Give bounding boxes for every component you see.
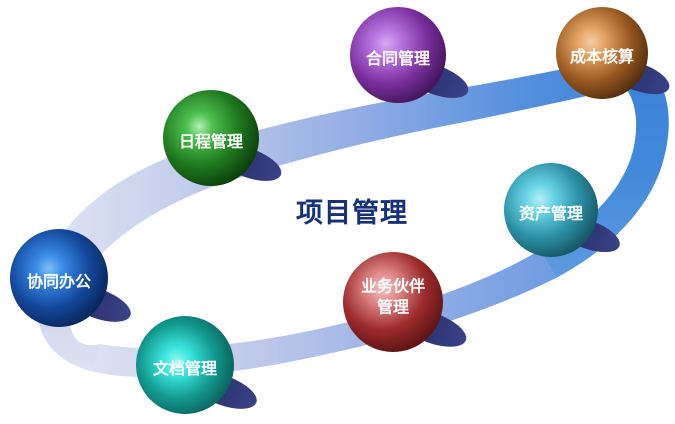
- node-label-line: 文档管理: [153, 359, 217, 378]
- node-collaborative-office[interactable]: 协同办公: [10, 229, 135, 329]
- node-label: 成本核算: [570, 47, 634, 66]
- node-label: 合同管理: [366, 49, 430, 68]
- project-management-diagram: 合同管理成本核算日程管理资产管理协同办公业务伙伴管理文档管理 项目管理: [0, 0, 675, 424]
- node-label-line: 成本核算: [570, 47, 634, 66]
- diagram-canvas: 合同管理成本核算日程管理资产管理协同办公业务伙伴管理文档管理 项目管理: [0, 0, 675, 424]
- node-cost-accounting[interactable]: 成本核算: [556, 7, 674, 101]
- node-label-line: 协同办公: [27, 272, 91, 291]
- node-label: 文档管理: [153, 359, 217, 378]
- node-label: 日程管理: [179, 132, 243, 151]
- node-label-line: 管理: [377, 297, 409, 316]
- node-label-line: 资产管理: [519, 204, 583, 223]
- node-label-line: 日程管理: [179, 132, 243, 151]
- node-label-line: 合同管理: [366, 49, 430, 68]
- node-label: 资产管理: [519, 204, 583, 223]
- node-contract-management[interactable]: 合同管理: [350, 7, 473, 105]
- page-title: 项目管理: [296, 198, 408, 228]
- node-label: 协同办公: [27, 272, 91, 291]
- node-label-line: 业务伙伴: [361, 276, 425, 295]
